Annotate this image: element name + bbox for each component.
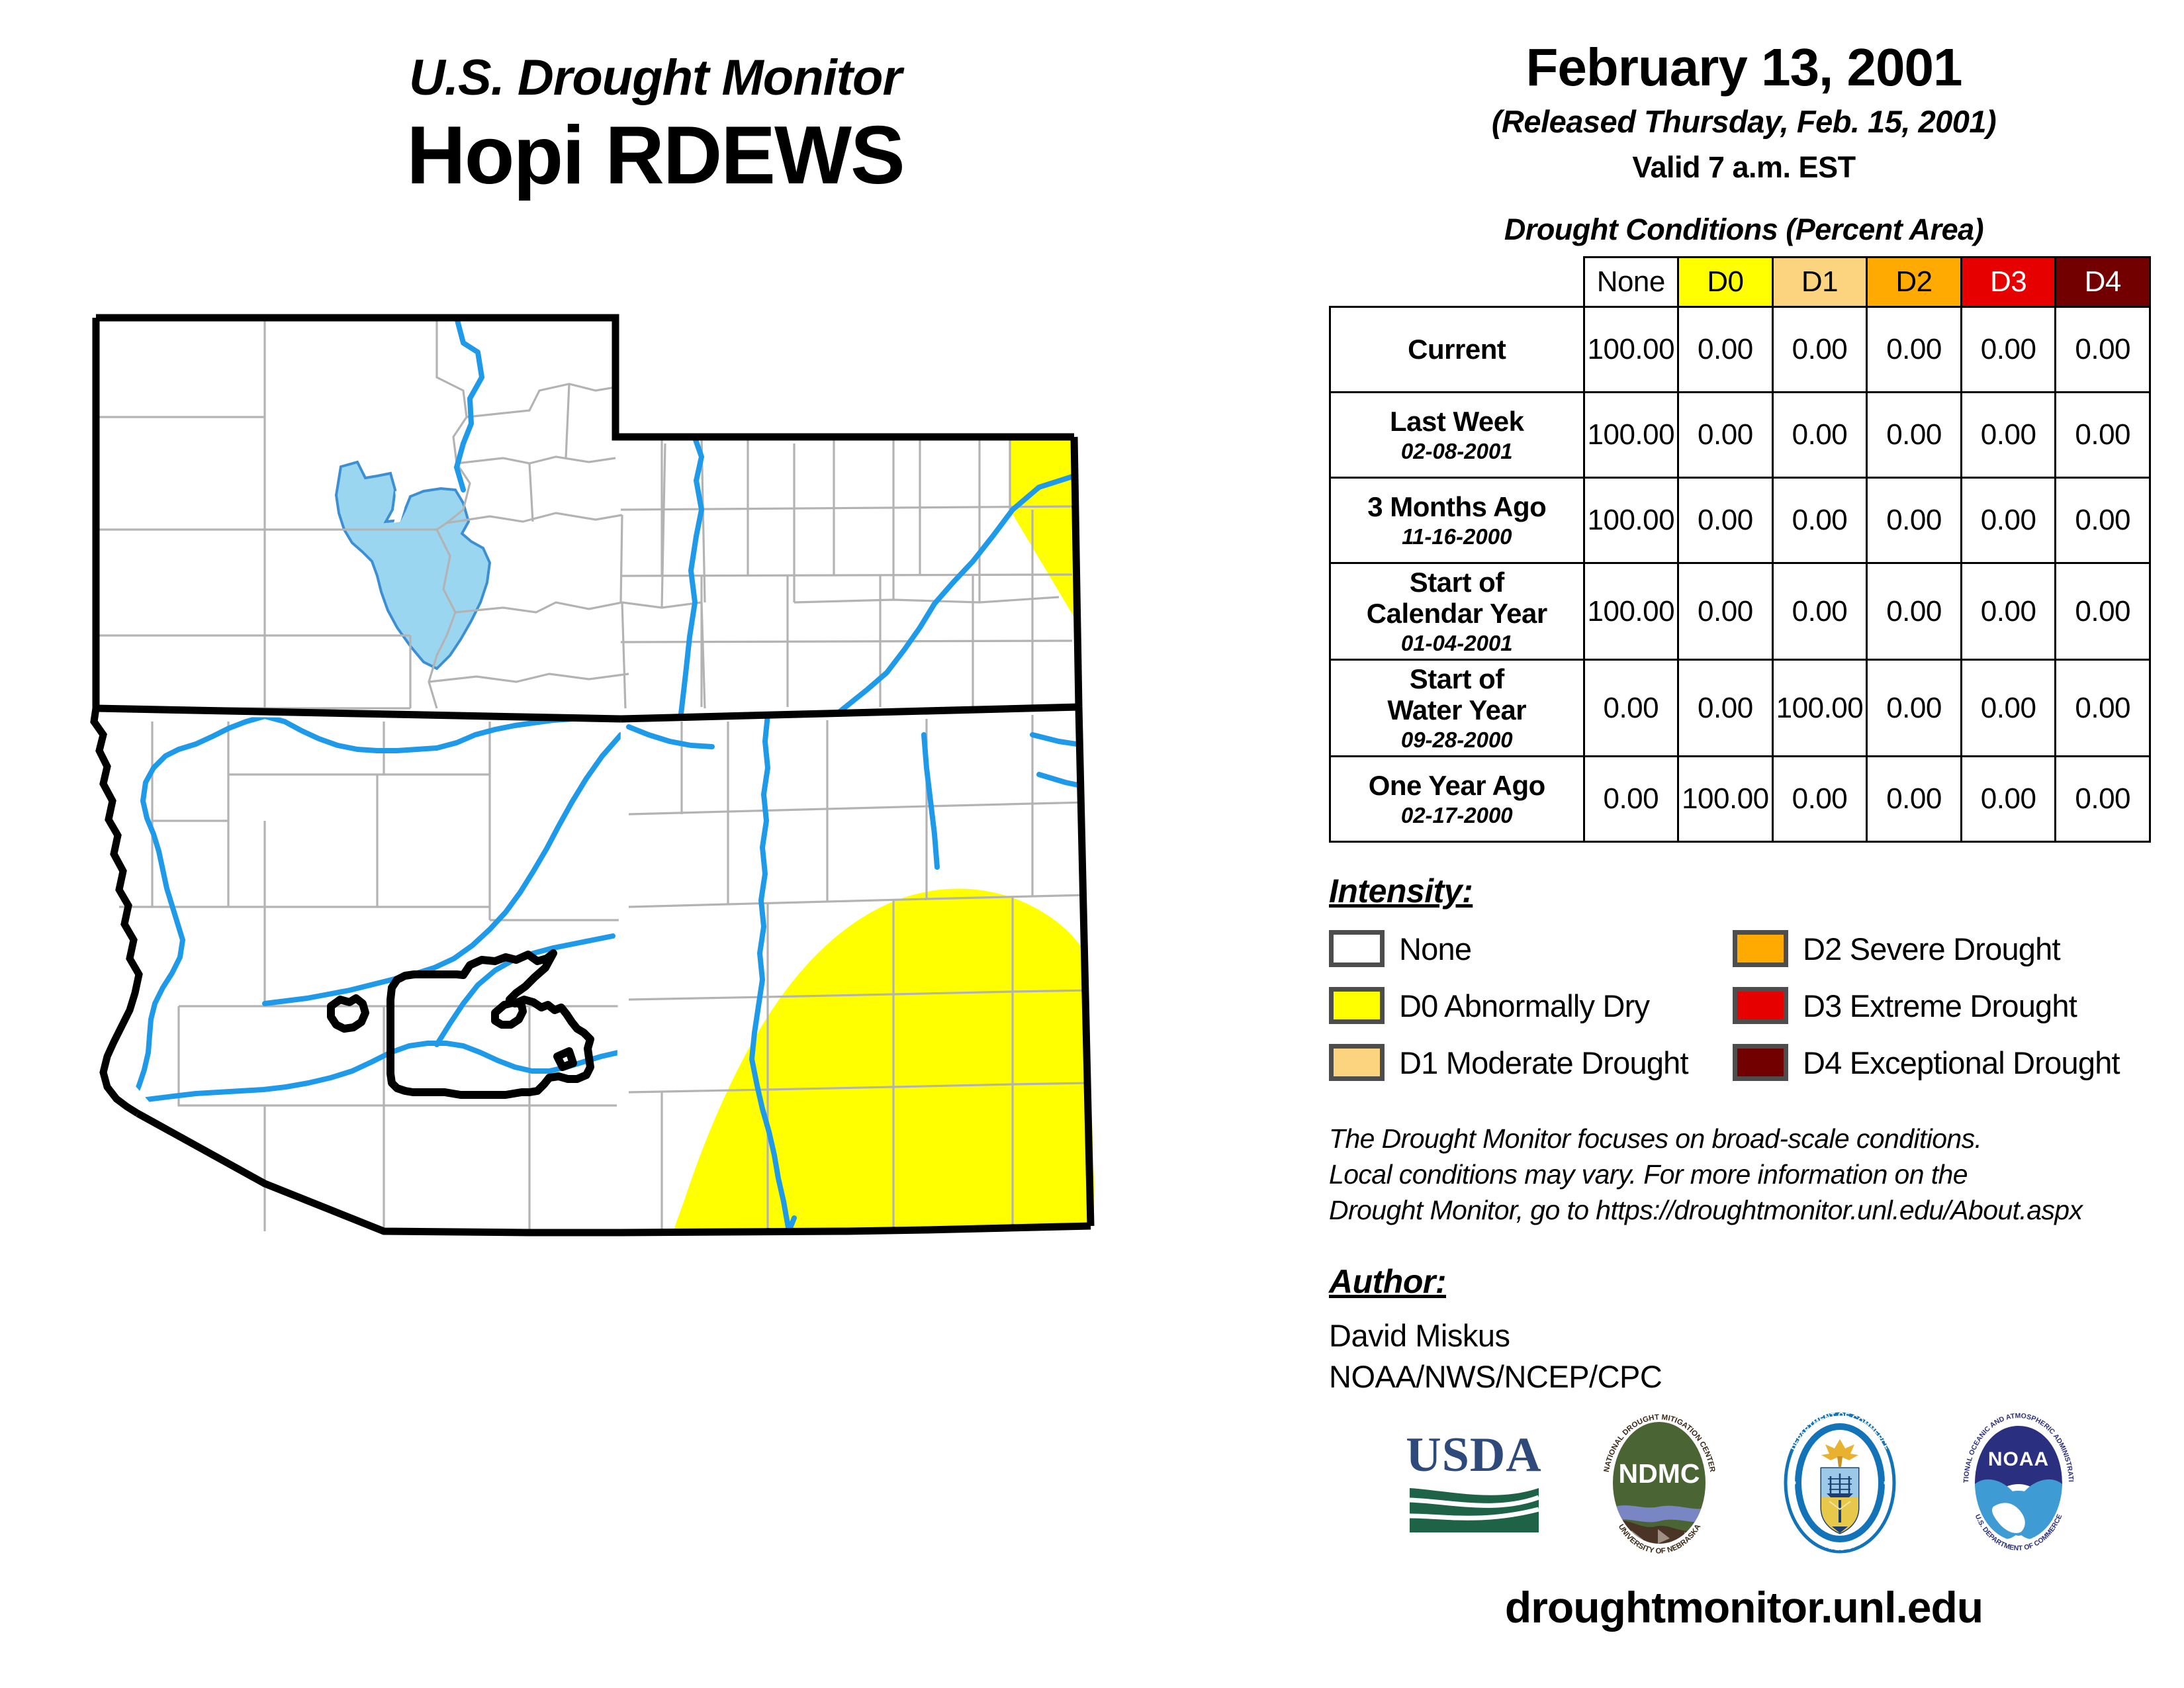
cell-d2: 0.00 (1867, 478, 1962, 563)
cell-none: 100.00 (1584, 478, 1678, 563)
cell-d0: 0.00 (1678, 307, 1773, 393)
row-header-date: 02-17-2000 (1335, 804, 1579, 828)
disclaimer-line-3: Drought Monitor, go to https://droughtmo… (1329, 1192, 2171, 1228)
cell-d1: 0.00 (1772, 563, 1867, 660)
legend-item-d0: D0 Abnormally Dry (1329, 983, 1733, 1028)
table-row: Current100.000.000.000.000.000.00 (1330, 307, 2150, 393)
noaa-logo: NOAA NATIONAL OCEANIC AND ATMOSPHERIC AD… (1952, 1410, 2085, 1559)
cell-d4: 0.00 (2056, 478, 2150, 563)
release-date: (Released Thursday, Feb. 15, 2001) (1317, 103, 2171, 140)
report-date: February 13, 2001 (1317, 40, 2171, 95)
ndmc-logo: NDMC NATIONAL DROUGHT MITIGATION CENTER … (1592, 1410, 1727, 1559)
legend-swatch-none (1329, 930, 1385, 967)
footer-url[interactable]: droughtmonitor.unl.edu (1317, 1582, 2171, 1632)
legend-label-d2: D2 Severe Drought (1803, 931, 2060, 967)
table-row: Last Week02-08-2001100.000.000.000.000.0… (1330, 393, 2150, 478)
legend-swatch-d1 (1329, 1044, 1385, 1081)
author-affiliation: NOAA/NWS/NCEP/CPC (1329, 1356, 2171, 1397)
cell-d3: 0.00 (1961, 660, 2056, 757)
department-of-commerce-seal: DEPARTMENT OF COMMERCE UNITED STATES OF … (1774, 1410, 1906, 1559)
cell-d2: 0.00 (1867, 563, 1962, 660)
cell-d3: 0.00 (1961, 757, 2056, 842)
legend-label-d4: D4 Exceptional Drought (1803, 1045, 2120, 1081)
cell-d1: 0.00 (1772, 478, 1867, 563)
cell-d1: 0.00 (1772, 757, 1867, 842)
legend-swatch-d3 (1733, 987, 1788, 1024)
legend-item-d2: D2 Severe Drought (1733, 926, 2169, 971)
row-header-date: 02-08-2001 (1335, 440, 1579, 464)
cell-d4: 0.00 (2056, 757, 2150, 842)
drought-conditions-table: None D0 D1 D2 D3 D4 Current100.000.000.0… (1329, 256, 2151, 843)
row-header-2: 3 Months Ago11-16-2000 (1330, 478, 1584, 563)
legend-label-d3: D3 Extreme Drought (1803, 988, 2077, 1024)
cell-d1: 0.00 (1772, 307, 1867, 393)
legend-grid: NoneD2 Severe DroughtD0 Abnormally DryD3… (1329, 926, 2171, 1085)
row-header-date: 09-28-2000 (1335, 728, 1579, 753)
svg-text:USDA: USDA (1406, 1428, 1541, 1482)
author-heading: Author: (1329, 1262, 2171, 1301)
intensity-heading: Intensity: (1329, 872, 2171, 910)
svg-text:NDMC: NDMC (1619, 1458, 1700, 1489)
page-title: U.S. Drought Monitor (0, 53, 1310, 103)
cell-d1: 100.00 (1772, 660, 1867, 757)
region-title: Hopi RDEWS (0, 113, 1310, 199)
author-block: Author: David Miskus NOAA/NWS/NCEP/CPC (1329, 1262, 2171, 1397)
row-header-3: Start ofCalendar Year01-04-2001 (1330, 563, 1584, 660)
legend-item-d3: D3 Extreme Drought (1733, 983, 2169, 1028)
cell-d4: 0.00 (2056, 393, 2150, 478)
table-row: One Year Ago02-17-20000.00100.000.000.00… (1330, 757, 2150, 842)
cell-d4: 0.00 (2056, 660, 2150, 757)
column-header-d3: D3 (1961, 258, 2056, 307)
author-details: David Miskus NOAA/NWS/NCEP/CPC (1329, 1315, 2171, 1397)
legend-swatch-d0 (1329, 987, 1385, 1024)
valid-time: Valid 7 a.m. EST (1317, 150, 2171, 185)
row-header-4: Start ofWater Year09-28-2000 (1330, 660, 1584, 757)
legend-item-none: None (1329, 926, 1733, 971)
cell-none: 0.00 (1584, 757, 1678, 842)
cell-d3: 0.00 (1961, 393, 2056, 478)
title-block: U.S. Drought Monitor Hopi RDEWS (0, 53, 1310, 199)
cell-d0: 0.00 (1678, 660, 1773, 757)
partner-logos: USDA (1317, 1410, 2171, 1559)
cell-d4: 0.00 (2056, 307, 2150, 393)
legend-swatch-d4 (1733, 1044, 1788, 1081)
table-body: Current100.000.000.000.000.000.00Last We… (1330, 307, 2150, 842)
cell-d1: 0.00 (1772, 393, 1867, 478)
cell-d0: 100.00 (1678, 757, 1773, 842)
table-corner-cell (1330, 258, 1584, 307)
table-row: Start ofWater Year09-28-20000.000.00100.… (1330, 660, 2150, 757)
cell-d2: 0.00 (1867, 757, 1962, 842)
table-row: Start ofCalendar Year01-04-2001100.000.0… (1330, 563, 2150, 660)
row-header-date: 11-16-2000 (1335, 525, 1579, 549)
cell-d4: 0.00 (2056, 563, 2150, 660)
column-header-d2: D2 (1867, 258, 1962, 307)
drought-map[interactable] (66, 311, 1310, 1569)
column-header-d1: D1 (1772, 258, 1867, 307)
table-row: 3 Months Ago11-16-2000100.000.000.000.00… (1330, 478, 2150, 563)
row-header-5: One Year Ago02-17-2000 (1330, 757, 1584, 842)
intensity-legend: Intensity: NoneD2 Severe DroughtD0 Abnor… (1329, 872, 2171, 1085)
disclaimer-line-1: The Drought Monitor focuses on broad-sca… (1329, 1121, 2171, 1156)
cell-none: 100.00 (1584, 307, 1678, 393)
cell-d3: 0.00 (1961, 563, 2056, 660)
cell-d2: 0.00 (1867, 307, 1962, 393)
cell-d3: 0.00 (1961, 307, 2056, 393)
usda-logo: USDA (1403, 1417, 1545, 1552)
map-background (66, 311, 1310, 1569)
disclaimer-line-2: Local conditions may vary. For more info… (1329, 1156, 2171, 1192)
table-header-row: None D0 D1 D2 D3 D4 (1330, 258, 2150, 307)
cell-d0: 0.00 (1678, 563, 1773, 660)
right-panel: February 13, 2001 (Released Thursday, Fe… (1317, 40, 2171, 1675)
author-name: David Miskus (1329, 1315, 2171, 1356)
cell-d3: 0.00 (1961, 478, 2056, 563)
cell-d2: 0.00 (1867, 660, 1962, 757)
row-header-0: Current (1330, 307, 1584, 393)
disclaimer-text: The Drought Monitor focuses on broad-sca… (1329, 1121, 2171, 1228)
row-header-1: Last Week02-08-2001 (1330, 393, 1584, 478)
legend-item-d4: D4 Exceptional Drought (1733, 1040, 2169, 1085)
cell-none: 100.00 (1584, 393, 1678, 478)
svg-text:NOAA: NOAA (1988, 1448, 2049, 1470)
row-header-date: 01-04-2001 (1335, 632, 1579, 656)
cell-none: 100.00 (1584, 563, 1678, 660)
legend-label-none: None (1399, 931, 1471, 967)
legend-swatch-d2 (1733, 930, 1788, 967)
table-caption: Drought Conditions (Percent Area) (1317, 212, 2171, 247)
map-svg (66, 311, 1310, 1569)
cell-d0: 0.00 (1678, 478, 1773, 563)
legend-label-d1: D1 Moderate Drought (1399, 1045, 1688, 1081)
cell-d2: 0.00 (1867, 393, 1962, 478)
cell-d0: 0.00 (1678, 393, 1773, 478)
column-header-d4: D4 (2056, 258, 2150, 307)
legend-label-d0: D0 Abnormally Dry (1399, 988, 1649, 1024)
column-header-none: None (1584, 258, 1678, 307)
date-block: February 13, 2001 (Released Thursday, Fe… (1317, 40, 2171, 185)
cell-none: 0.00 (1584, 660, 1678, 757)
legend-item-d1: D1 Moderate Drought (1329, 1040, 1733, 1085)
column-header-d0: D0 (1678, 258, 1773, 307)
